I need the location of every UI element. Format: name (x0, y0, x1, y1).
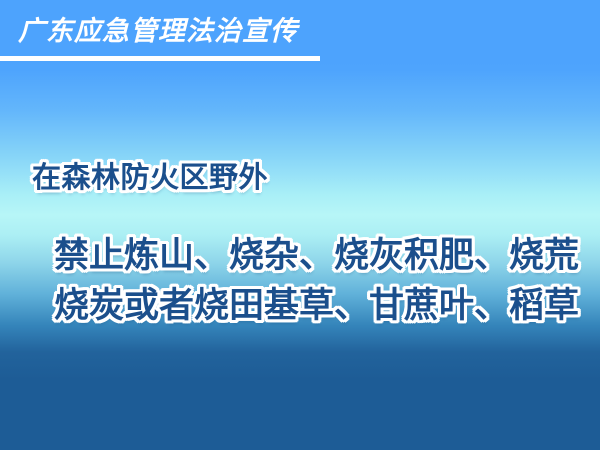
message-line-1: 在森林防火区野外 (32, 164, 268, 193)
poster-canvas: 广东应急管理法治宣传 在森林防火区野外 禁止炼山、烧杂、烧灰积肥、烧荒 烧炭或者… (0, 0, 600, 450)
page-title: 广东应急管理法治宣传 (18, 18, 298, 45)
message-line-3: 烧炭或者烧田基草、甘蔗叶、稻草 (54, 288, 579, 323)
poster-header: 广东应急管理法治宣传 (0, 0, 600, 62)
message-line-2: 禁止炼山、烧杂、烧灰积肥、烧荒 (54, 238, 579, 273)
header-underline-rule (0, 56, 320, 61)
